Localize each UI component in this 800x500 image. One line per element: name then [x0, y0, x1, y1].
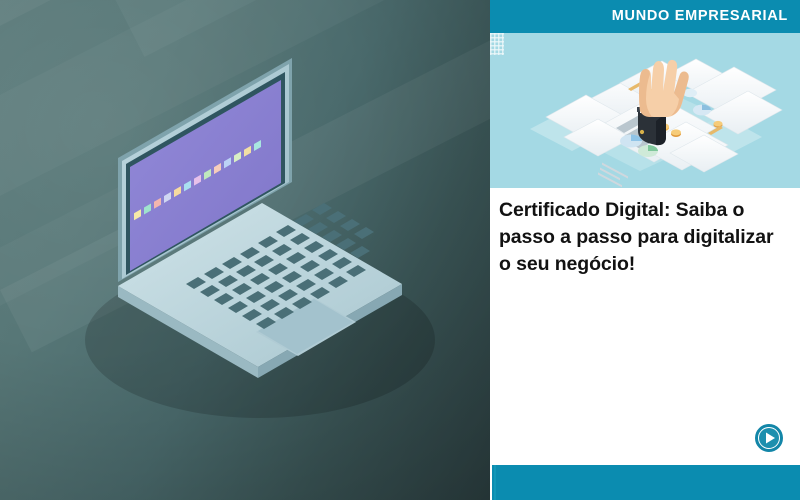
article-card: MUNDO EMPRESARIAL — [490, 0, 800, 500]
hero-panel — [0, 0, 490, 500]
footer-bar — [492, 465, 800, 500]
banner-canvas: MUNDO EMPRESARIAL — [0, 0, 800, 500]
footer-bar-seam — [494, 465, 496, 500]
article-headline[interactable]: Certificado Digital: Saiba o passo a pas… — [499, 197, 789, 278]
category-bar: MUNDO EMPRESARIAL — [490, 0, 800, 33]
article-thumbnail[interactable] — [490, 33, 800, 188]
play-icon[interactable] — [755, 424, 783, 452]
category-label: MUNDO EMPRESARIAL — [612, 9, 788, 24]
thumbnail-dot-pattern — [490, 33, 504, 55]
hand-paperwork-illustration — [490, 33, 800, 188]
laptop-illustration — [60, 40, 460, 420]
